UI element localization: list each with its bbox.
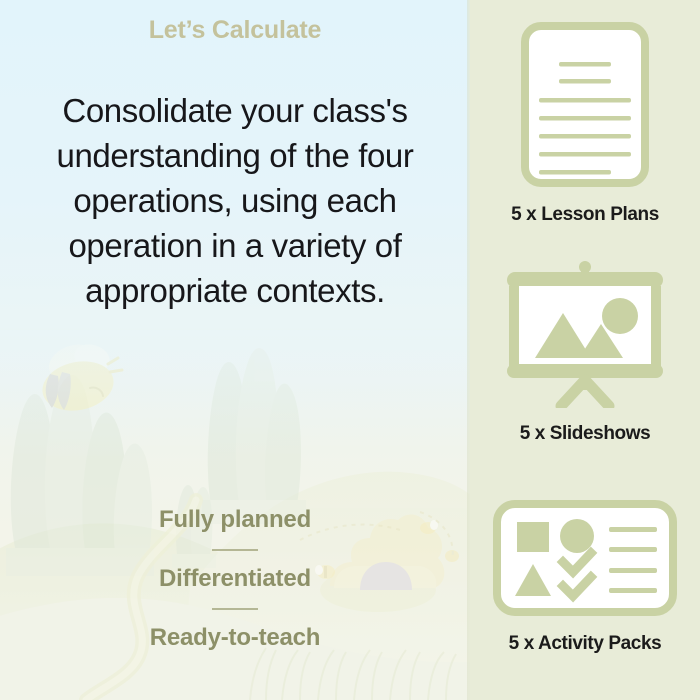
lesson-plan-document-icon <box>521 22 649 192</box>
right-panel: 5 x Lesson Plans <box>470 0 700 700</box>
pack-item-lesson-plans: 5 x Lesson Plans <box>470 22 700 226</box>
page-headline: Consolidate your class's understanding o… <box>18 88 452 313</box>
bee-icon <box>38 338 122 417</box>
feature-item-fully-planned: Fully planned <box>0 505 470 535</box>
cypress-trees-mid <box>202 348 306 524</box>
activity-pack-card-icon <box>493 500 677 621</box>
slideshow-projector-icon <box>501 258 669 413</box>
feature-item-differentiated: Differentiated <box>0 564 470 594</box>
feature-divider <box>212 608 258 610</box>
pack-label-lesson-plans: 5 x Lesson Plans <box>511 204 659 226</box>
pack-item-slideshows: 5 x Slideshows <box>470 258 700 445</box>
feature-item-ready-to-teach: Ready-to-teach <box>0 623 470 653</box>
page-eyebrow-title: Let’s Calculate <box>0 16 470 45</box>
feature-divider <box>212 549 258 551</box>
pack-label-slideshows: 5 x Slideshows <box>520 423 651 445</box>
promo-graphic: Let’s Calculate Consolidate your class's… <box>0 0 700 700</box>
grass-tufts <box>250 648 456 700</box>
feature-list: Fully planned Differentiated Ready-to-te… <box>0 505 470 653</box>
pack-label-activity-packs: 5 x Activity Packs <box>509 633 662 655</box>
left-panel: Let’s Calculate Consolidate your class's… <box>0 0 470 700</box>
pack-item-activity-packs: 5 x Activity Packs <box>470 500 700 655</box>
